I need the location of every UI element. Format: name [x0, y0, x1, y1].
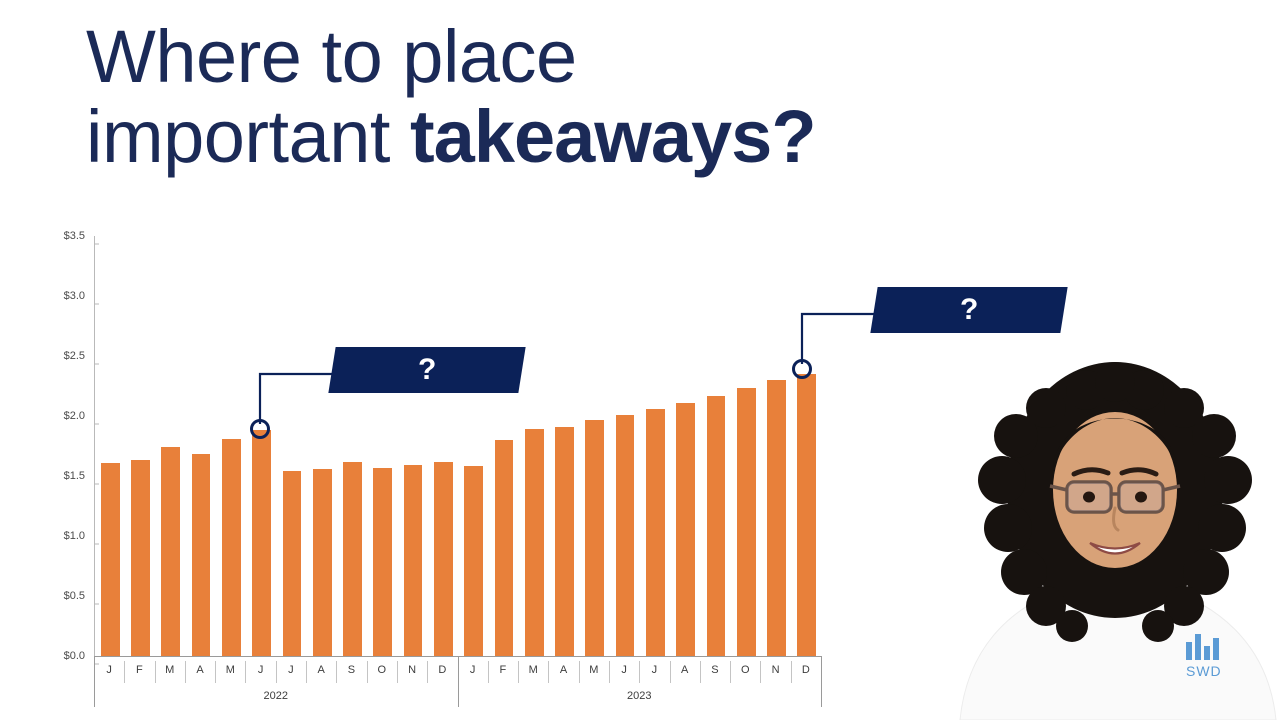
callout-2[interactable]: ?	[870, 287, 1067, 333]
presenter-illustration: SWD	[950, 340, 1280, 720]
presenter-video-overlay: SWD	[950, 340, 1280, 720]
callout-1[interactable]: ?	[328, 347, 525, 393]
slide-canvas: Where to place important takeaways? $0.0…	[0, 0, 1280, 720]
callout-2-text: ?	[960, 295, 978, 325]
callout-1-text: ?	[418, 355, 436, 385]
svg-text:SWD: SWD	[1186, 663, 1222, 679]
